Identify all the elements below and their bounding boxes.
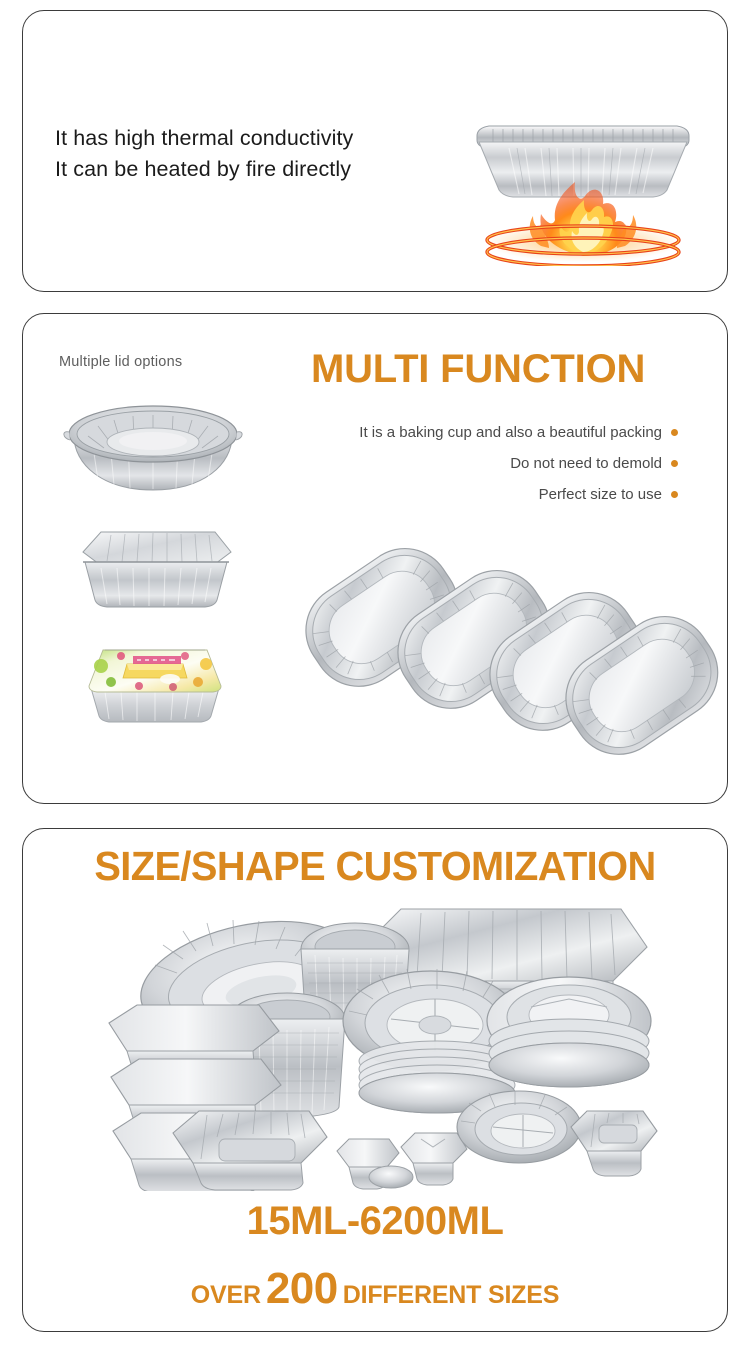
- sizes-suffix: DIFFERENT SIZES: [343, 1281, 559, 1309]
- oval-foil-bowl: [457, 1091, 581, 1163]
- bullet-dot-icon: [671, 429, 678, 436]
- domed-round-lid-stack: [487, 977, 651, 1087]
- multi-function-title: MULTI FUNCTION: [311, 347, 645, 392]
- different-sizes-line: OVER200DIFFERENT SIZES: [23, 1264, 727, 1314]
- size-shape-title: SIZE/SHAPE CUSTOMIZATION: [34, 843, 717, 890]
- bullet-text: Perfect size to use: [539, 486, 662, 503]
- bullet-item: It is a baking cup and also a beautiful …: [253, 417, 678, 448]
- panel-size-shape-customization: SIZE/SHAPE CUSTOMIZATION: [22, 828, 728, 1332]
- assorted-foil-containers-montage: [101, 901, 661, 1191]
- thermal-conductivity-text: It has high thermal conductivity It can …: [55, 123, 353, 185]
- thermal-line-1: It has high thermal conductivity: [55, 123, 353, 154]
- small-square-foil-containers: [337, 1133, 467, 1189]
- multi-function-bullet-list: It is a baking cup and also a beautiful …: [253, 417, 678, 510]
- panel-thermal-conductivity: It has high thermal conductivity It can …: [22, 10, 728, 292]
- multiple-lid-options-label: Multiple lid options: [59, 354, 182, 370]
- bullet-text: It is a baking cup and also a beautiful …: [359, 424, 662, 441]
- sizes-prefix: OVER: [191, 1281, 261, 1309]
- thermal-line-2: It can be heated by fire directly: [55, 154, 353, 185]
- bullet-dot-icon: [671, 460, 678, 467]
- small-rectangular-pan: [571, 1111, 657, 1176]
- lid-option-printed-paper-lid: [75, 636, 235, 726]
- volume-range-text: 15ML-6200ML: [23, 1199, 727, 1244]
- stacked-foil-trays-illustration: [278, 504, 728, 794]
- sizes-count: 200: [266, 1264, 338, 1313]
- panel-multi-function: Multiple lid options MULTI FUNCTION It i…: [22, 313, 728, 804]
- foil-tray-shape: [477, 126, 689, 197]
- foil-tray-over-flame-illustration: [463, 106, 703, 266]
- lid-option-rectangular-foil-lid: [65, 522, 245, 617]
- bullet-text: Do not need to demold: [510, 455, 662, 472]
- bullet-dot-icon: [671, 491, 678, 498]
- bullet-item: Do not need to demold: [253, 448, 678, 479]
- product-detail-page: It has high thermal conductivity It can …: [0, 0, 750, 1349]
- lid-option-round-foil-container: [58, 396, 248, 506]
